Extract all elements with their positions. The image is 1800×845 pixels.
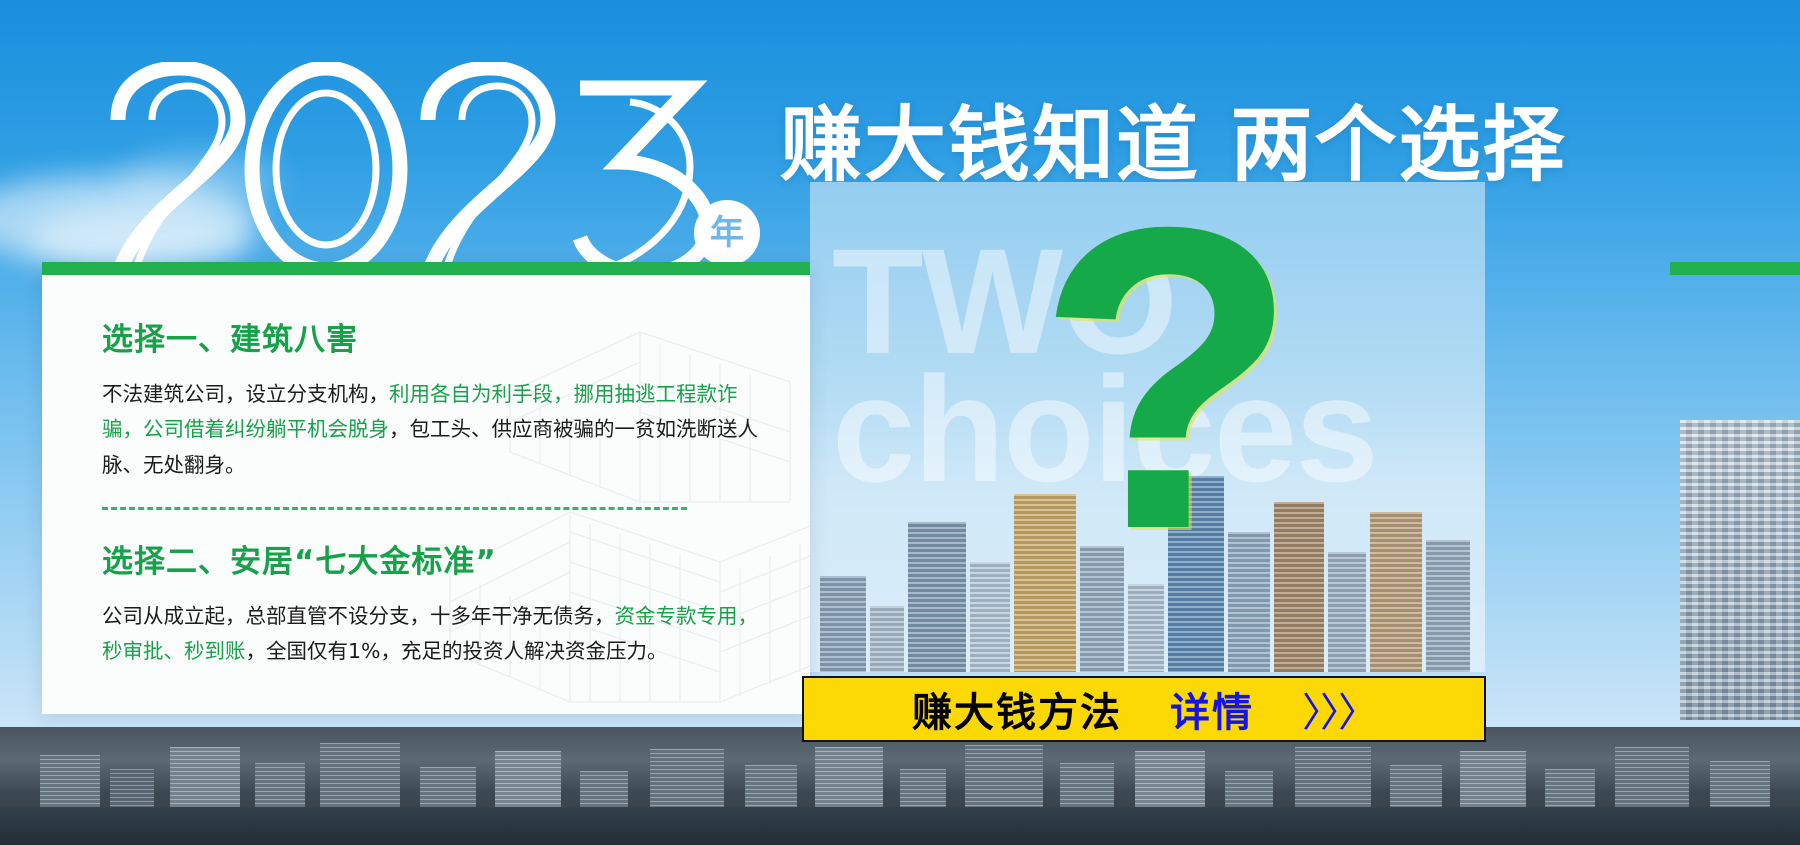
question-mark-graphic: ?	[1036, 182, 1299, 594]
cta-banner[interactable]: 赚大钱方法 详情 〉〉〉	[802, 676, 1486, 742]
page-title: 赚大钱知道 两个选择	[780, 78, 1567, 197]
year-unit-label: 年	[710, 216, 744, 250]
water-reflection	[0, 807, 1800, 845]
section-2-text: 公司从成立起，总部直管不设分支，十多年干净无债务，资金专款专用，秒审批、秒到账，…	[102, 599, 766, 670]
section-2-text-part: 公司从成立起，总部直管不设分支，十多年干净无债务，	[102, 604, 615, 628]
right-edge-building-photo	[1680, 420, 1800, 720]
card-body: 选择一、建筑八害 不法建筑公司，设立分支机构，利用各自为利手段，挪用抽逃工程款诈…	[42, 262, 810, 669]
section-1-title: 选择一、建筑八害	[102, 314, 766, 359]
section-1-text-part: 不法建筑公司，设立分支机构，	[102, 382, 389, 406]
content-card: 选择一、建筑八害 不法建筑公司，设立分支机构，利用各自为利手段，挪用抽逃工程款诈…	[42, 262, 810, 714]
year-unit-badge: 年	[694, 200, 760, 266]
cta-detail-link[interactable]: 详情	[1170, 680, 1254, 738]
section-1-text: 不法建筑公司，设立分支机构，利用各自为利手段，挪用抽逃工程款诈骗，公司借着纠纷躺…	[102, 377, 766, 483]
chevron-right-icon: 〉〉〉	[1302, 680, 1376, 738]
right-edge-green-rule	[1670, 262, 1800, 275]
footer-waterfront-strip	[0, 727, 1800, 845]
right-photo-panel: TWO choices ?	[810, 182, 1485, 672]
year-2023-graphic	[110, 62, 730, 277]
poster-canvas: 年 赚大钱知道 两个选择 TWO choices ? 赚大钱方法	[0, 0, 1800, 845]
cta-main-label: 赚大钱方法	[912, 680, 1122, 738]
section-2-text-part: ，全国仅有1%，充足的投资人解决资金压力。	[246, 639, 668, 663]
section-2-title: 选择二、安居“七大金标准”	[102, 536, 766, 581]
section-divider	[102, 507, 687, 510]
